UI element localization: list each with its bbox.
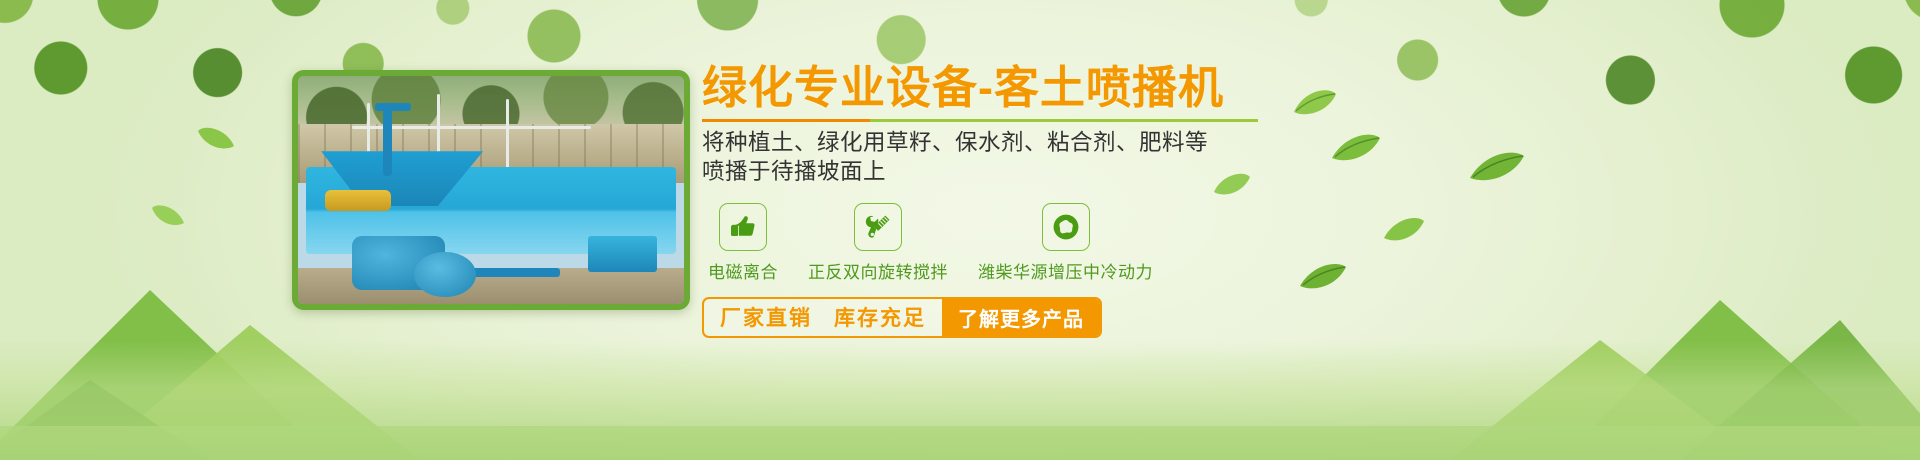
leaf-icon (150, 204, 186, 228)
feature-item-bidirectional-mixing: 正反双向旋转搅拌 (808, 203, 948, 283)
feature-item-weichai-engine: 潍柴华源增压中冷动力 (978, 203, 1153, 283)
title-divider (702, 119, 1258, 122)
cta-slogan-group: 厂家直销 库存充足 (704, 299, 942, 336)
engine-gear-icon (1051, 212, 1081, 242)
leaf-icon (196, 126, 236, 152)
grass-gradient-decoration (0, 340, 1920, 460)
photo-pipe (383, 108, 392, 176)
wrench-screwdriver-icon (863, 212, 893, 242)
cta-bar: 厂家直销 库存充足 了解更多产品 (702, 297, 1102, 338)
subtitle-line-2: 喷播于待播坡面上 (702, 157, 1502, 187)
banner-content: 绿化专业设备-客土喷播机 将种植土、绿化用草籽、保水剂、粘合剂、肥料等 喷播于待… (702, 64, 1502, 338)
feature-label: 潍柴华源增压中冷动力 (978, 258, 1153, 283)
subtitle-line-1: 将种植土、绿化用草籽、保水剂、粘合剂、肥料等 (702, 128, 1502, 158)
feature-icon-frame (719, 203, 767, 251)
feature-label: 电磁离合 (708, 258, 778, 283)
feature-list: 电磁离合 正反双向旋转搅拌 (702, 203, 1502, 283)
feature-item-electromagnetic-clutch: 电磁离合 (708, 203, 778, 283)
product-photo (292, 70, 690, 310)
photo-yellow-cylinder (325, 190, 391, 211)
photo-railing (506, 99, 509, 172)
feature-icon-frame (1042, 203, 1090, 251)
promo-banner: 绿化专业设备-客土喷播机 将种植土、绿化用草籽、保水剂、粘合剂、肥料等 喷播于待… (0, 0, 1920, 460)
cta-slogan-2: 库存充足 (834, 302, 926, 332)
photo-control-box (588, 236, 657, 272)
feature-icon-frame (854, 203, 902, 251)
page-title: 绿化专业设备-客土喷播机 (702, 64, 1502, 113)
feature-label: 正反双向旋转搅拌 (808, 258, 948, 283)
thumbs-up-icon (728, 212, 758, 242)
photo-pump (414, 252, 476, 298)
photo-pipe (375, 103, 411, 111)
learn-more-button[interactable]: 了解更多产品 (942, 299, 1100, 336)
cta-slogan-1: 厂家直销 (720, 302, 812, 332)
